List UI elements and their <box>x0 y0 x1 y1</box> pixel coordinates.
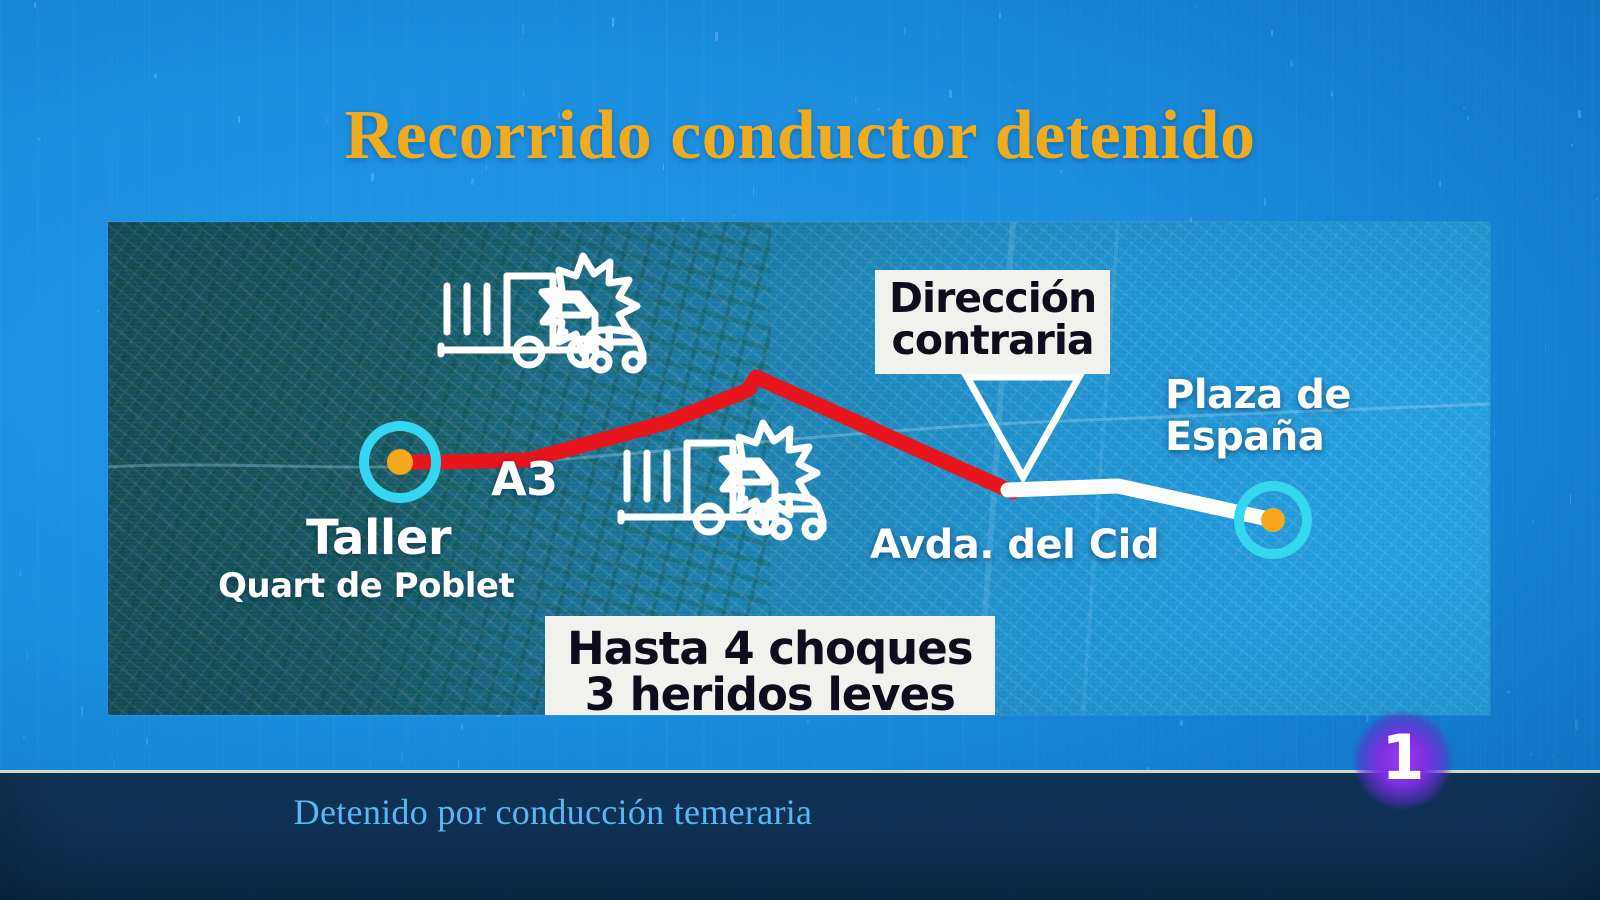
callout-wrong-direction: Dirección contraria <box>875 270 1110 374</box>
broadcast-graphic: Recorrido conductor detenido <box>0 0 1600 900</box>
callout-wrong-direction-line2: contraria <box>889 320 1096 362</box>
truck-car-crash-icon <box>433 250 648 380</box>
route-normal-line <box>1008 486 1273 520</box>
callout-stats-line2: 3 heridos leves <box>567 672 973 715</box>
map-label-plaza-line2: España <box>1165 414 1324 460</box>
map-label-avda-del-cid: Avda. del Cid <box>870 522 1159 568</box>
callout-wrong-direction-line1: Dirección <box>889 274 1096 322</box>
page-title: Recorrido conductor detenido <box>0 96 1600 176</box>
callout-incident-stats: Hasta 4 choques 3 heridos leves <box>545 616 995 715</box>
map-label-taller: Taller <box>306 510 451 566</box>
map-label-highway-a3: A3 <box>491 452 558 506</box>
map-panel: Taller Quart de Poblet A3 Avda. del Cid … <box>108 222 1490 715</box>
map-label-plaza-line1: Plaza de <box>1165 372 1351 418</box>
map-label-quart-de-poblet: Quart de Poblet <box>218 566 514 606</box>
ticker-headline: Detenido por conducción temeraria <box>0 791 1353 833</box>
channel-logo: 1 <box>1355 712 1451 808</box>
truck-car-crash-icon <box>613 417 828 547</box>
inverted-triangle-warning-icon <box>967 377 1079 477</box>
channel-logo-number: 1 <box>1355 712 1451 808</box>
